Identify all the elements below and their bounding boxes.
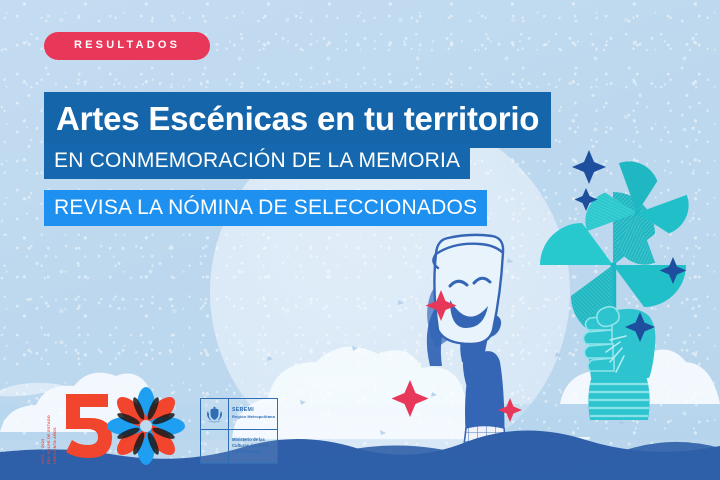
anniversary-rosette-0 [107,387,185,465]
logo-hrule [201,429,277,430]
region-label: Región Metropolitana [232,414,275,419]
anniversary-line-3: 1973 — 2023 [42,439,46,464]
ministry-logo: SEREMI Región Metropolitana Ministerio d… [200,398,278,464]
page-title: Artes Escénicas en tu territorio [44,92,551,148]
ministry-name: Ministerio de las Culturas, las Artes y … [232,437,274,455]
coat-of-arms-icon [205,406,224,423]
anniversary-vertical-text: CINCUENTA AÑOS DEL GOLPE DE ESTADO 1973 … [38,386,58,464]
anniversary-mark [38,386,188,466]
blue-star-upper [572,150,606,184]
poster-canvas: RESULTADOS Artes Escénicas en tu territo… [0,0,720,480]
anniversary-line-2: DEL GOLPE DE ESTADO [48,415,52,464]
seremi-label: SEREMI [232,407,254,413]
results-badge[interactable]: RESULTADOS [44,32,210,60]
subtitle-call-to-action[interactable]: REVISA LA NÓMINA DE SELECCIONADOS [44,190,487,226]
subtitle-commemoration: EN CONMEMORACIÓN DE LA MEMORIA [44,143,470,179]
ministry-name-line-3: y el Patrimonio [232,449,274,455]
red-star-lower [392,380,429,417]
theatre-mask [433,235,503,344]
anniversary-logo: CINCUENTA AÑOS DEL GOLPE DE ESTADO 1973 … [38,386,188,466]
anniversary-line-1: CINCUENTA AÑOS [54,427,58,464]
anniversary-numeral-5 [66,394,112,458]
logo-divider [228,399,229,463]
